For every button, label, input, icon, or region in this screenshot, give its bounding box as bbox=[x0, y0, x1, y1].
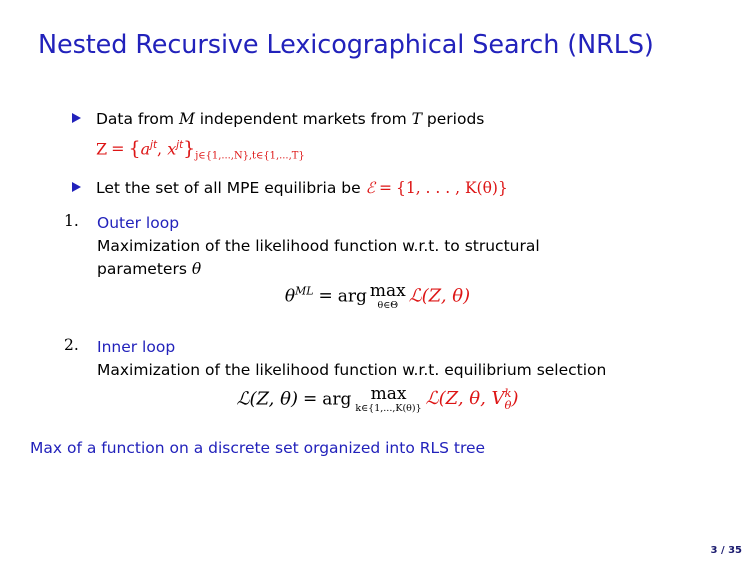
eq1-lhs-theta: θ bbox=[285, 286, 295, 306]
eq1-max-operator: maxθ∈Θ bbox=[370, 283, 406, 311]
equation-inner-loop: ℒ(Z, θ)=argmaxk∈{1,...,K(θ)}ℒ(Z, θ, Vkθ) bbox=[0, 386, 755, 414]
outer-loop-symbol-theta: θ bbox=[192, 260, 201, 278]
eq2-equals: = bbox=[298, 389, 322, 409]
eq2-max-operator: maxk∈{1,...,K(θ)} bbox=[355, 386, 421, 414]
list-item: Let the set of all MPE equilibria be ℰ={… bbox=[72, 177, 508, 200]
eq1-max-limits: θ∈Θ bbox=[370, 301, 406, 311]
bullet-2-equals: = bbox=[375, 179, 396, 197]
bullet-2-symbol-e: ℰ bbox=[366, 179, 375, 197]
triangle-bullet-icon bbox=[72, 182, 81, 192]
bullet-2-text: Let the set of all MPE equilibria be bbox=[96, 179, 366, 197]
eq1-lhs-sup: ML bbox=[295, 285, 313, 298]
list-item: 1. Outer loop Maximization of the likeli… bbox=[64, 212, 540, 281]
inner-loop-body-line-1: Maximization of the likelihood function … bbox=[97, 359, 606, 382]
bullet-1-text-a: Data from bbox=[96, 110, 179, 128]
bullet-1-text-c: periods bbox=[422, 110, 484, 128]
eq2-objective: ℒ(Z, θ, Vkθ) bbox=[426, 388, 519, 409]
equation-outer-loop: θML=argmaxθ∈Θℒ(Z, θ) bbox=[0, 283, 755, 311]
list-item: Data from M independent markets from T p… bbox=[72, 108, 484, 168]
eq2-max-limits: k∈{1,...,K(θ)} bbox=[355, 404, 421, 414]
eq1-max-label: max bbox=[370, 283, 406, 300]
outer-loop-body-text: parameters bbox=[97, 260, 192, 278]
bullet-2-line: Let the set of all MPE equilibria be ℰ={… bbox=[96, 177, 508, 200]
formula-z-term1-sup: jt bbox=[150, 139, 157, 151]
eq1-equals: = bbox=[313, 286, 337, 306]
closing-statement: Max of a function on a discrete set orga… bbox=[30, 439, 485, 457]
eq2-max-label: max bbox=[355, 386, 421, 403]
list-marker-2: 2. bbox=[64, 336, 79, 354]
list-marker-1: 1. bbox=[64, 212, 79, 230]
eq2-arg: arg bbox=[322, 389, 351, 409]
inner-loop-heading: Inner loop bbox=[97, 336, 606, 359]
bullet-1-symbol-m: M bbox=[179, 110, 195, 128]
eq1-objective: ℒ(Z, θ) bbox=[409, 285, 470, 306]
triangle-bullet-icon bbox=[72, 113, 81, 123]
eq1-arg: arg bbox=[338, 286, 367, 306]
eq2-lhs: ℒ(Z, θ) bbox=[237, 388, 298, 409]
eq2-objective-close: ) bbox=[511, 388, 518, 409]
eq2-objective-open: ℒ(Z, θ, V bbox=[426, 388, 505, 409]
formula-z-lhs: Z bbox=[96, 139, 107, 158]
bullet-1-line-1: Data from M independent markets from T p… bbox=[96, 108, 484, 131]
formula-z-term1: a bbox=[141, 139, 151, 158]
slide-canvas: { "slide": { "title": "Nested Recursive … bbox=[0, 0, 755, 567]
formula-z-term2: x bbox=[167, 139, 176, 158]
bullet-1-symbol-t: T bbox=[412, 110, 422, 128]
formula-z-subscript: j∈{1,...,N},t∈{1,...,T} bbox=[195, 151, 304, 162]
formula-z-close-brace: } bbox=[183, 137, 195, 159]
bullet-2-rhs: {1, . . . , K(θ)} bbox=[396, 179, 508, 197]
bullet-1-formula-z: Z={ajt, xjt}j∈{1,...,N},t∈{1,...,T} bbox=[96, 134, 484, 168]
bullet-1-text-b: independent markets from bbox=[195, 110, 412, 128]
formula-z-open-brace: { bbox=[129, 137, 141, 159]
formula-z-equals: = bbox=[107, 139, 128, 158]
list-item: 2. Inner loop Maximization of the likeli… bbox=[64, 336, 606, 382]
page-number: 3 / 35 bbox=[711, 545, 743, 556]
outer-loop-heading: Outer loop bbox=[97, 212, 540, 235]
page-title: Nested Recursive Lexicographical Search … bbox=[38, 30, 654, 60]
outer-loop-body-line-2: parameters θ bbox=[97, 258, 540, 281]
formula-z-comma: , bbox=[157, 139, 167, 158]
outer-loop-body-line-1: Maximization of the likelihood function … bbox=[97, 235, 540, 258]
